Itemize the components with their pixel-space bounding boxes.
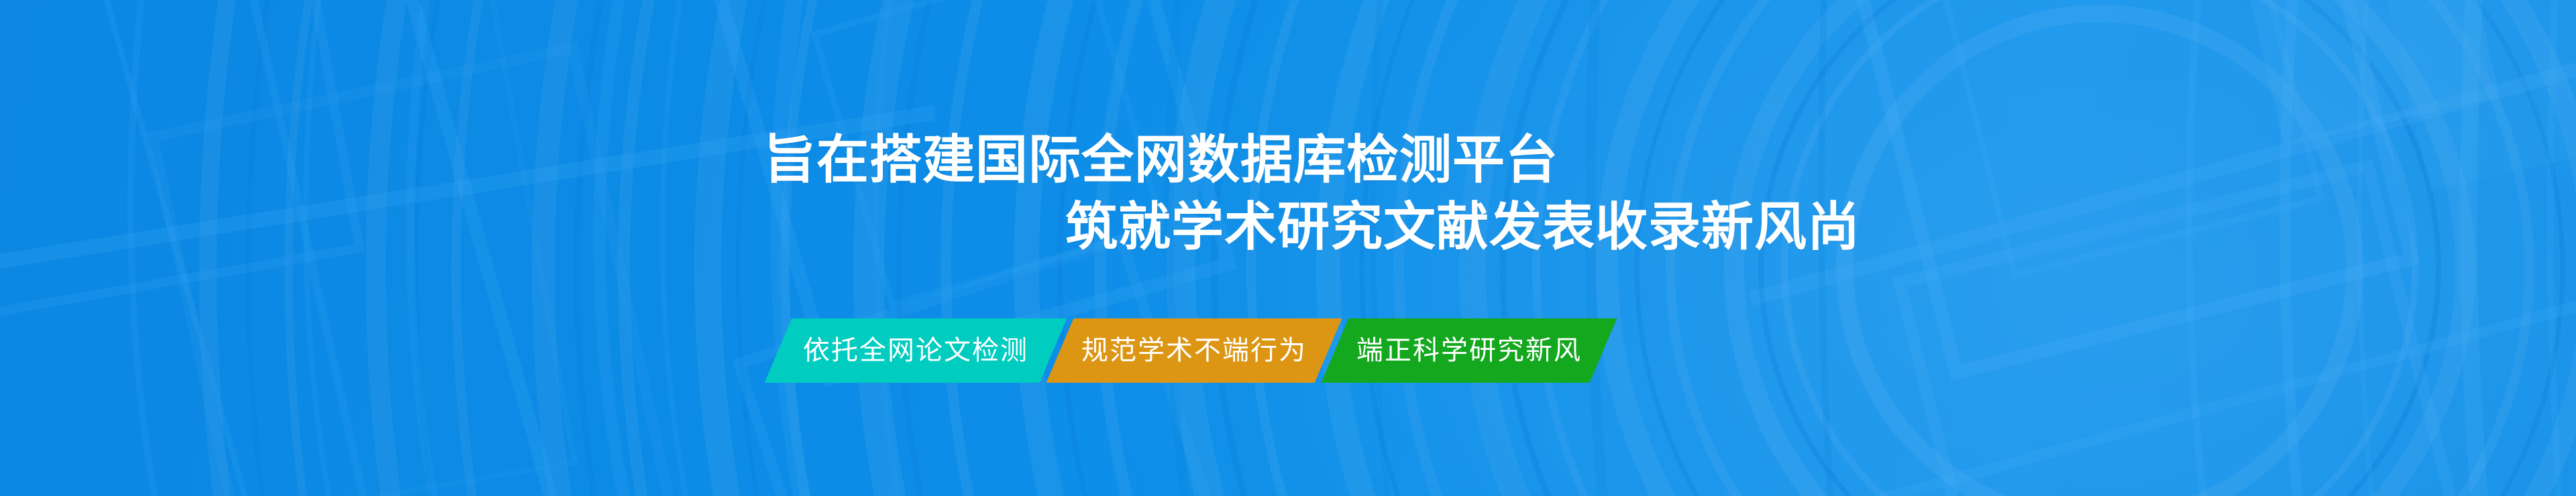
tag-academic-misconduct-label: 规范学术不端行为 [1081, 337, 1307, 364]
tag-academic-misconduct[interactable]: 规范学术不端行为 [1046, 318, 1342, 383]
headline-line-2: 筑就学术研究文献发表收录新风尚 [1065, 198, 1860, 255]
tag-plagiarism-detection-label: 依托全网论文检测 [803, 337, 1028, 364]
tag-research-ethics[interactable]: 端正科学研究新风 [1322, 318, 1617, 383]
tag-research-ethics-label: 端正科学研究新风 [1356, 337, 1582, 364]
tag-plagiarism-detection[interactable]: 依托全网论文检测 [765, 318, 1067, 383]
hero-banner: 旨在搭建国际全网数据库检测平台 筑就学术研究文献发表收录新风尚 依托全网论文检测… [0, 0, 2576, 496]
banner-content: 旨在搭建国际全网数据库检测平台 筑就学术研究文献发表收录新风尚 依托全网论文检测… [0, 0, 2576, 496]
headline-line-1: 旨在搭建国际全网数据库检测平台 [763, 131, 1558, 188]
feature-tag-strip: 依托全网论文检测 规范学术不端行为 端正科学研究新风 [778, 318, 1603, 383]
